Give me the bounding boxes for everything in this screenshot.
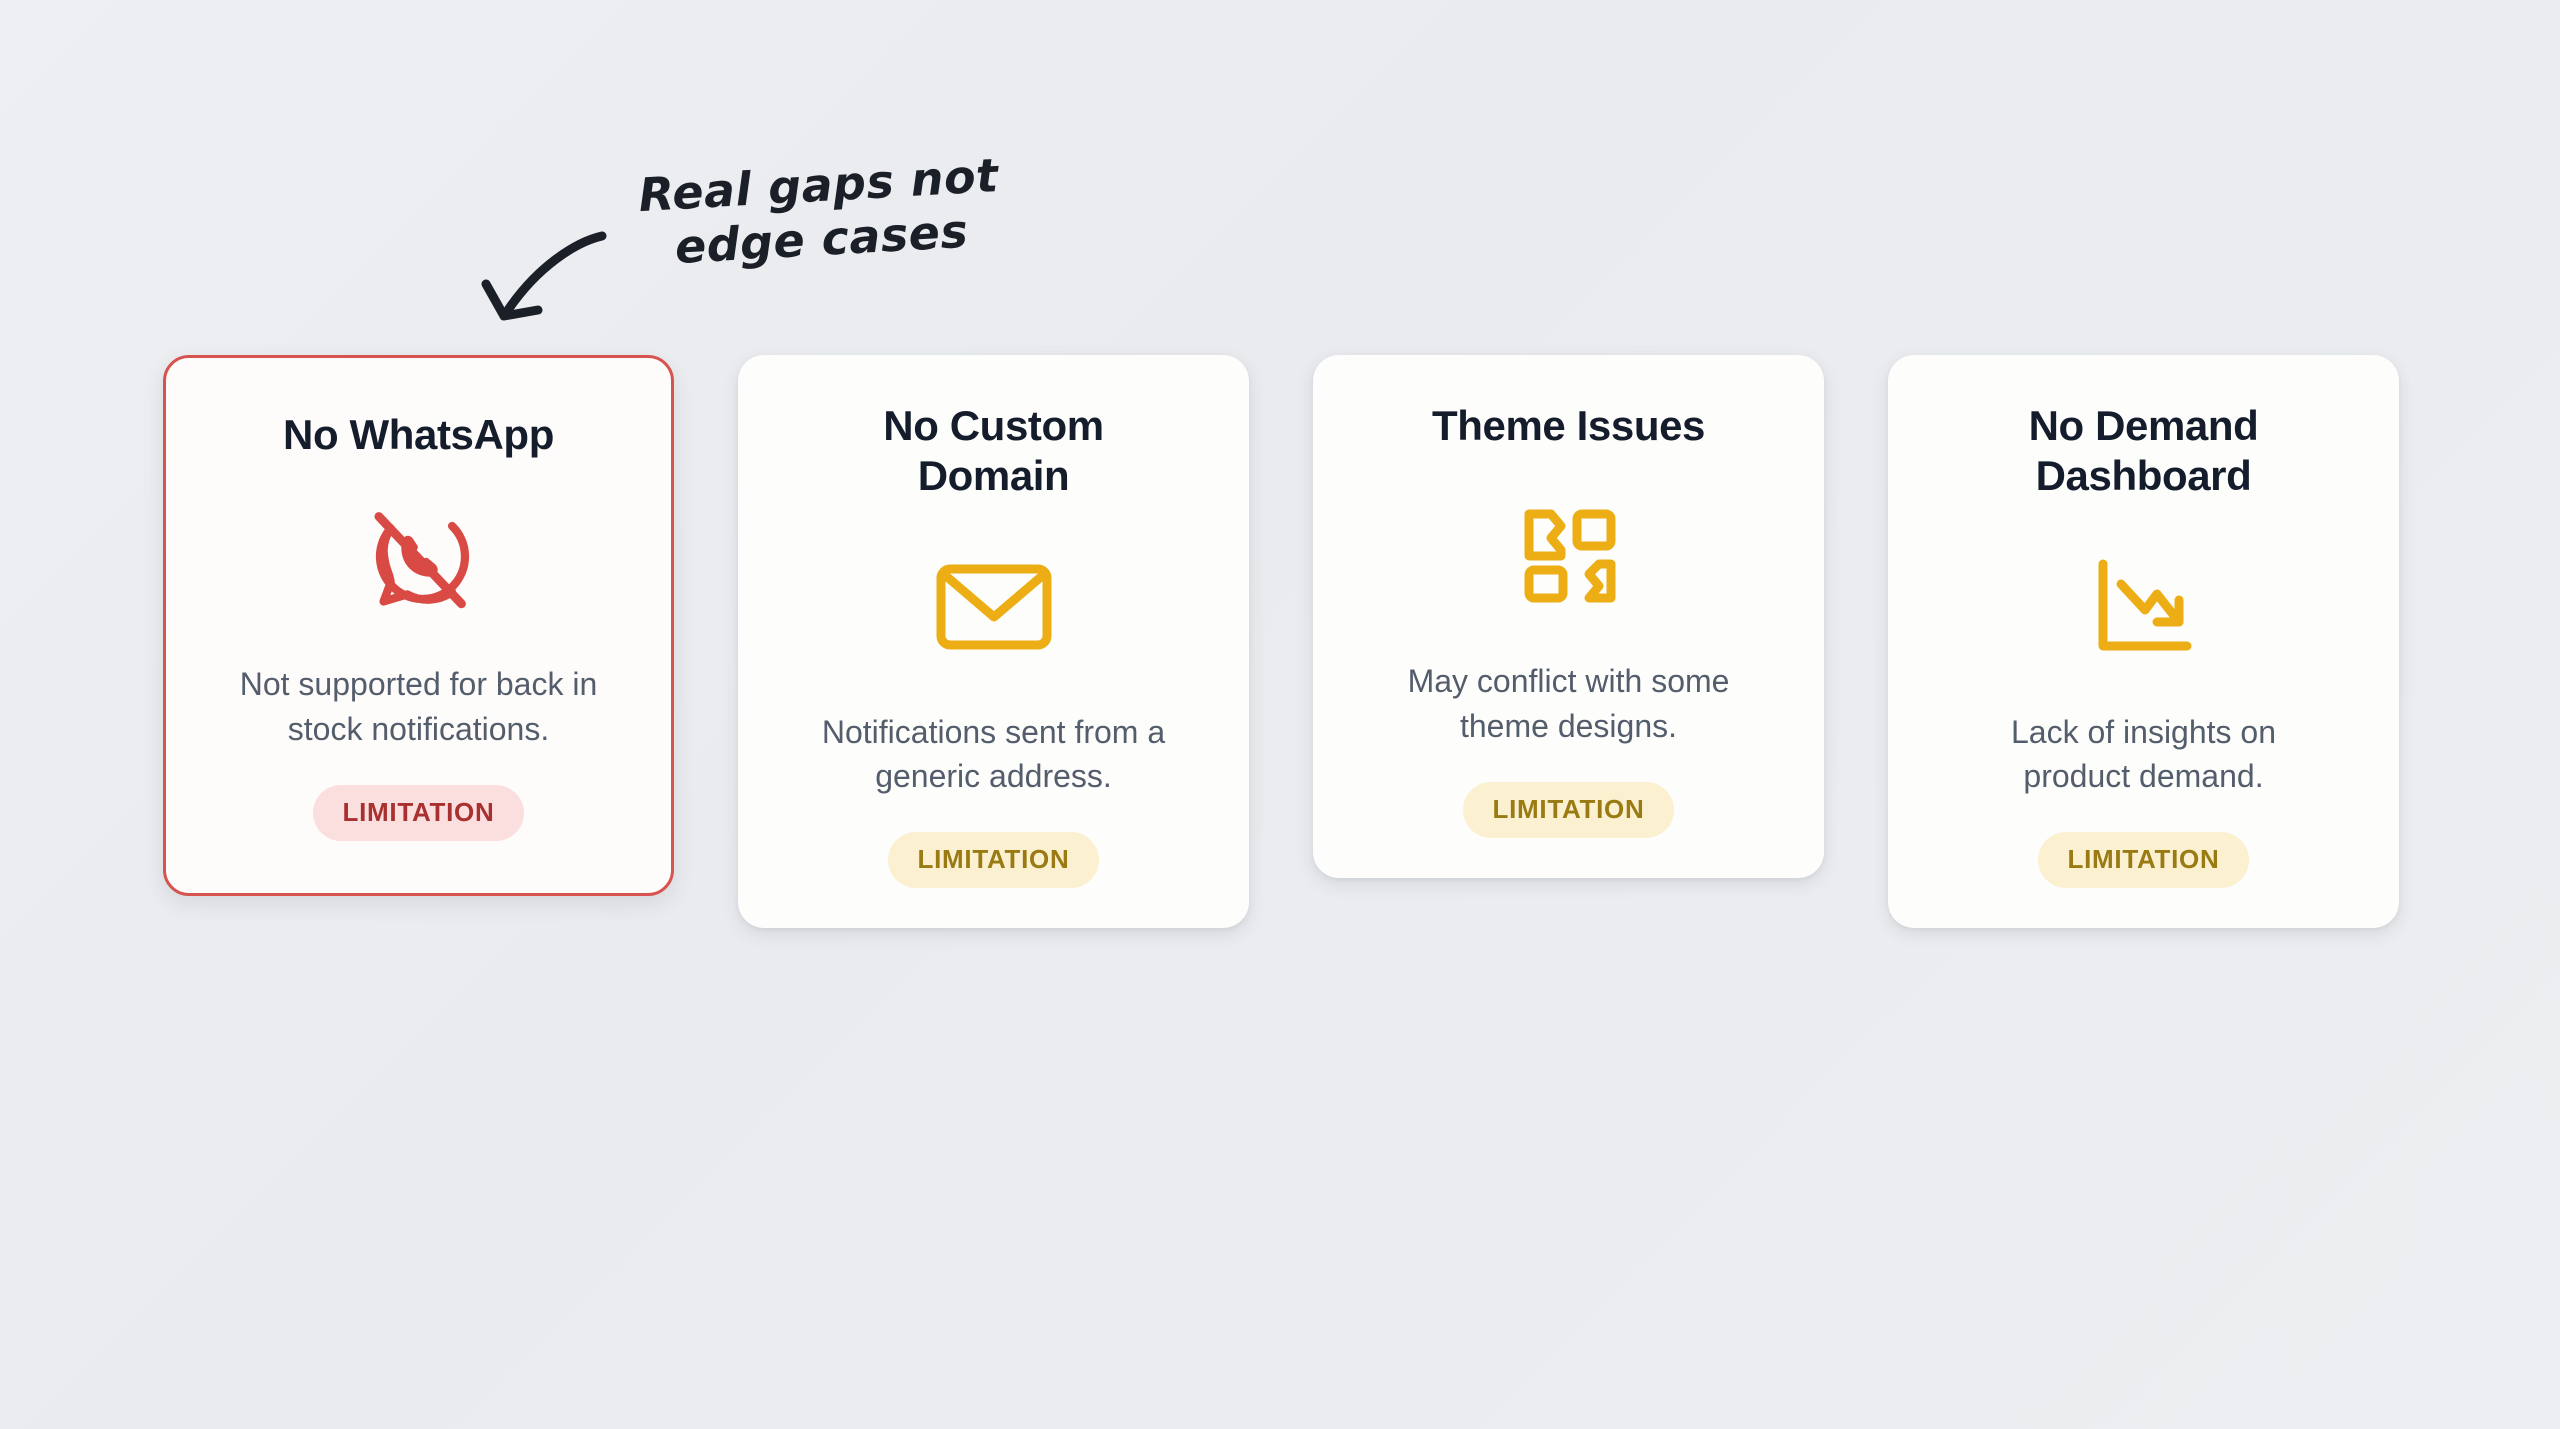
card-title: Theme Issues xyxy=(1432,401,1705,451)
limitation-card-no-whatsapp[interactable]: No WhatsApp Not supported for back in st… xyxy=(163,355,674,896)
card-description: Lack of insights on product demand. xyxy=(1954,710,2334,798)
status-badge: LIMITATION xyxy=(313,785,525,841)
card-title: No Demand Dashboard xyxy=(1979,401,2309,502)
annotation-line-2: edge cases xyxy=(620,201,1022,278)
envelope-icon xyxy=(934,552,1054,662)
limitation-card-no-demand-dashboard[interactable]: No Demand Dashboard Lack of insights on … xyxy=(1888,355,2399,928)
card-description: May conflict with some theme designs. xyxy=(1379,659,1759,747)
status-badge: LIMITATION xyxy=(888,832,1100,888)
card-slot: No Custom Domain Notifications sent from… xyxy=(733,355,1254,928)
annotation-line-1: Real gaps not xyxy=(637,148,1000,222)
handwritten-annotation: Real gaps not edge cases xyxy=(617,147,1022,278)
card-slot: Theme Issues May conflict with some them… xyxy=(1308,355,1829,878)
limitation-card-no-custom-domain[interactable]: No Custom Domain Notifications sent from… xyxy=(738,355,1249,928)
card-title: No Custom Domain xyxy=(829,401,1159,502)
whatsapp-disabled-icon xyxy=(360,504,478,614)
status-badge: LIMITATION xyxy=(1463,782,1675,838)
card-title: No WhatsApp xyxy=(283,410,554,460)
curved-arrow-down-left-icon xyxy=(466,206,646,336)
limitation-card-theme-issues[interactable]: Theme Issues May conflict with some them… xyxy=(1313,355,1824,878)
declining-chart-icon xyxy=(2089,552,2199,662)
layout-blocks-icon xyxy=(1517,501,1621,611)
card-slot: No WhatsApp Not supported for back in st… xyxy=(158,355,679,896)
card-slot: No Demand Dashboard Lack of insights on … xyxy=(1883,355,2404,928)
limitation-cards-row: No WhatsApp Not supported for back in st… xyxy=(158,355,2404,928)
card-description: Notifications sent from a generic addres… xyxy=(804,710,1184,798)
status-badge: LIMITATION xyxy=(2038,832,2250,888)
card-description: Not supported for back in stock notifica… xyxy=(229,662,609,750)
